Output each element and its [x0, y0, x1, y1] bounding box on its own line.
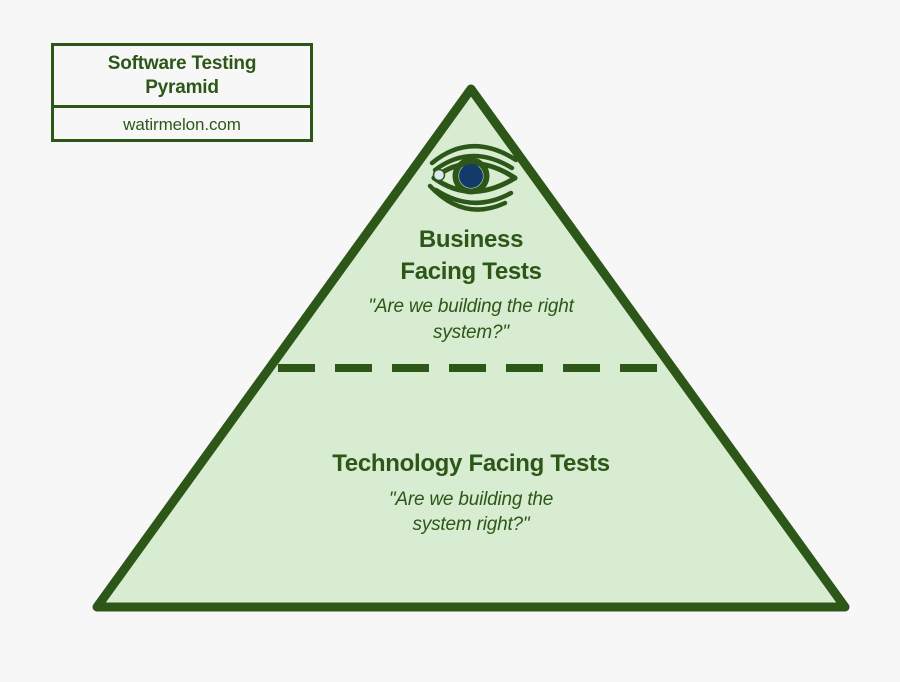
business-facing-heading-line1: Business	[419, 226, 523, 253]
technology-facing-heading: Technology Facing Tests	[261, 448, 681, 480]
business-facing-tier-text: Business Facing Tests "Are we building t…	[261, 224, 681, 345]
technology-facing-quote-line2: system right?"	[413, 514, 530, 535]
technology-facing-tier-text: Technology Facing Tests "Are we building…	[261, 448, 681, 537]
technology-facing-heading-label: Technology Facing Tests	[332, 450, 610, 477]
technology-facing-quote: "Are we building the system right?"	[261, 487, 681, 538]
business-facing-heading-line2: Facing Tests	[400, 258, 541, 285]
legend-source: watirmelon.com	[54, 108, 310, 142]
technology-facing-quote-line1: "Are we building the	[389, 489, 553, 510]
eye-icon	[430, 146, 516, 209]
legend-title-line1: Software Testing	[108, 53, 256, 74]
business-facing-quote-line1: "Are we building the right	[368, 296, 573, 317]
legend-source-label: watirmelon.com	[123, 115, 241, 135]
business-facing-quote: "Are we building the right system?"	[261, 294, 681, 345]
business-facing-quote-line2: system?"	[433, 322, 509, 343]
business-facing-heading: Business Facing Tests	[261, 224, 681, 287]
diagram-canvas: Software Testing Pyramid watirmelon.com	[0, 0, 900, 682]
legend-title-line2: Pyramid	[145, 77, 219, 98]
legend-title: Software Testing Pyramid	[54, 46, 310, 105]
legend-box: Software Testing Pyramid watirmelon.com	[51, 43, 313, 142]
